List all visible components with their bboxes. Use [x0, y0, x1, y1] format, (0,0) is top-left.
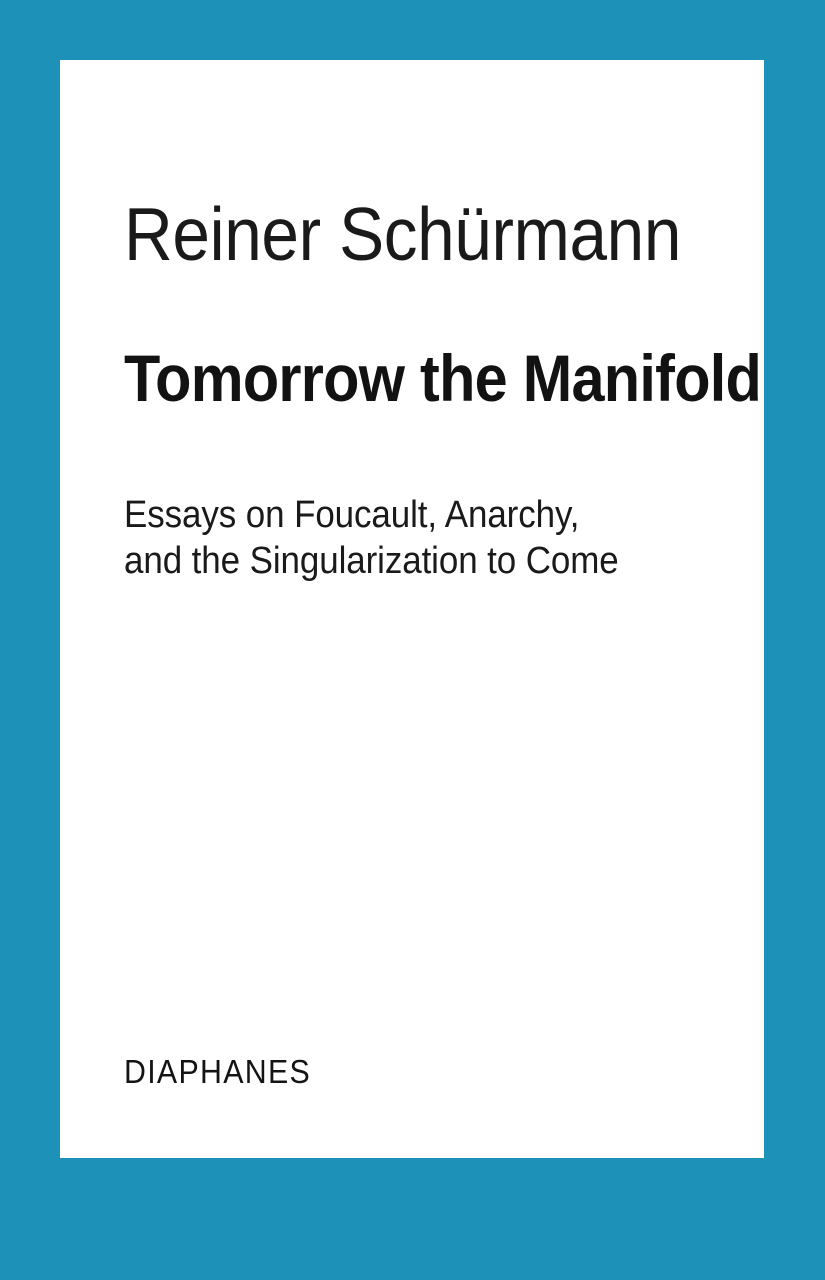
cover-text-block: Reiner Schürmann Tomorrow the Manifold E… [124, 60, 724, 1158]
cover-white-panel: Reiner Schürmann Tomorrow the Manifold E… [60, 60, 764, 1158]
subtitle-line-2: and the Singularization to Come [124, 538, 676, 584]
book-title: Tomorrow the Manifold [124, 345, 664, 411]
author-name: Reiner Schürmann [124, 197, 664, 272]
subtitle-line-1: Essays on Foucault, Anarchy, [124, 492, 676, 538]
book-cover: Reiner Schürmann Tomorrow the Manifold E… [0, 0, 825, 1280]
publisher-name: DIAPHANES [124, 1053, 311, 1091]
book-subtitle: Essays on Foucault, Anarchy, and the Sin… [124, 492, 676, 584]
